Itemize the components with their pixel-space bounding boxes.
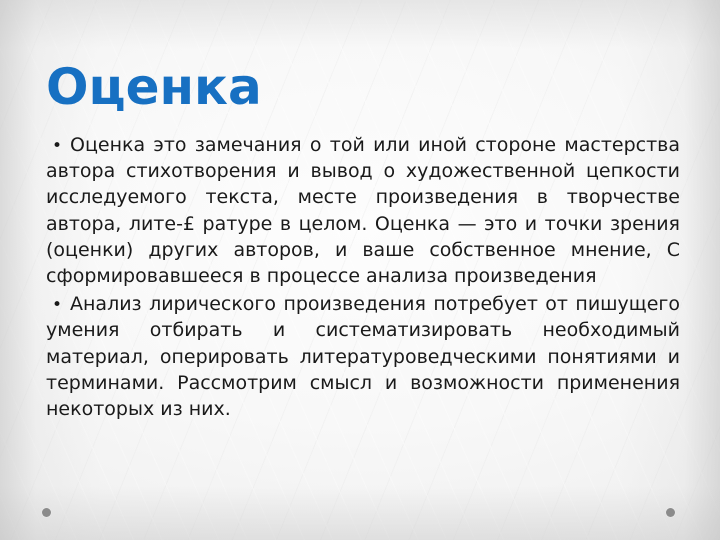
bottom-left-dot-decoration xyxy=(42,508,51,517)
bullet-point-icon xyxy=(52,291,70,317)
bullet-paragraph-2-text: Анализ лирического произведения потребуе… xyxy=(46,293,680,420)
bullet-point-icon xyxy=(52,132,70,158)
bullet-paragraph-1: Оценка это замечания о той или иной стор… xyxy=(46,132,680,289)
bullet-paragraph-2: Анализ лирического произведения потребуе… xyxy=(46,291,680,422)
bottom-right-dot-decoration xyxy=(666,508,675,517)
slide-title: Оценка xyxy=(46,58,686,116)
slide-body-text: Оценка это замечания о той или иной стор… xyxy=(46,132,680,422)
presentation-slide: Оценка Оценка это замечания о той или ин… xyxy=(0,0,720,540)
bullet-paragraph-1-text: Оценка это замечания о той или иной стор… xyxy=(46,134,680,287)
